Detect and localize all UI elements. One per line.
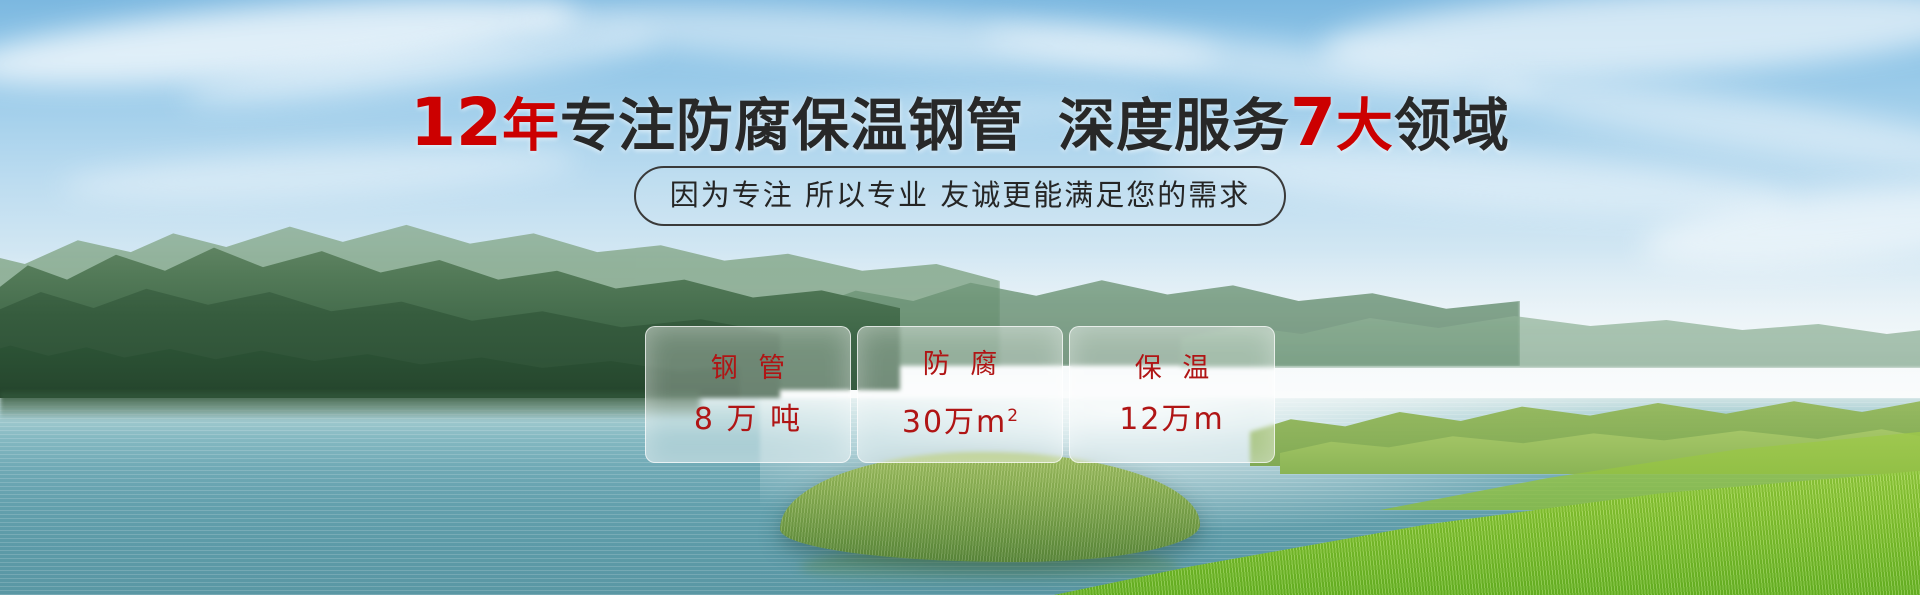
subtitle-pill: 因为专注 所以专业 友诚更能满足您的需求 bbox=[634, 166, 1286, 226]
headline-years-unit: 年 bbox=[502, 93, 560, 159]
headline-part2: 深度服务 bbox=[1058, 93, 1290, 159]
headline-fields-unit: 大 bbox=[1336, 93, 1394, 159]
stat-card-value-text: 30万m bbox=[902, 405, 1007, 440]
stat-card[interactable]: 保 温 12万m bbox=[1069, 326, 1275, 463]
stat-card[interactable]: 钢 管 8 万 吨 bbox=[645, 326, 851, 463]
stat-card-title: 保 温 bbox=[1129, 353, 1216, 385]
stat-card-list: 钢 管 8 万 吨 防 腐 30万m2 保 温 12万m bbox=[0, 326, 1920, 463]
hero-banner: 12年专注防腐保温钢管深度服务7大领域 因为专注 所以专业 友诚更能满足您的需求… bbox=[0, 0, 1920, 595]
stat-card-title: 防 腐 bbox=[917, 349, 1004, 381]
headline-part3: 领域 bbox=[1394, 93, 1510, 159]
stat-card-value-text: 8 万 吨 bbox=[694, 402, 802, 437]
stat-card[interactable]: 防 腐 30万m2 bbox=[857, 326, 1063, 463]
stat-card-value-superscript: 2 bbox=[1007, 406, 1018, 426]
stat-card-value: 8 万 吨 bbox=[694, 403, 802, 437]
stat-card-value-text: 12万m bbox=[1119, 402, 1224, 437]
headline-part1: 专注防腐保温钢管 bbox=[560, 93, 1024, 159]
stat-card-value: 12万m bbox=[1119, 403, 1224, 437]
headline-fields-number: 7 bbox=[1290, 84, 1336, 161]
headline-years-number: 12 bbox=[410, 84, 502, 161]
headline: 12年专注防腐保温钢管深度服务7大领域 bbox=[0, 92, 1920, 157]
banner-content: 12年专注防腐保温钢管深度服务7大领域 因为专注 所以专业 友诚更能满足您的需求… bbox=[0, 0, 1920, 595]
stat-card-title: 钢 管 bbox=[705, 353, 792, 385]
subtitle-container: 因为专注 所以专业 友诚更能满足您的需求 bbox=[0, 166, 1920, 226]
stat-card-value: 30万m2 bbox=[902, 399, 1018, 440]
